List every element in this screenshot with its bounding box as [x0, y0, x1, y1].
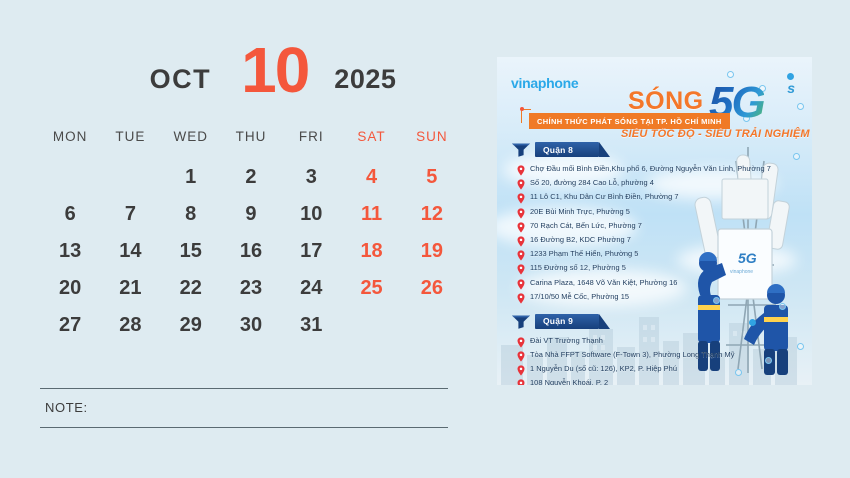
calendar-title: OCT 10 2025: [40, 38, 462, 106]
day-cell-10[interactable]: 10: [281, 196, 341, 233]
district-badge-plate: Quận 8: [535, 142, 599, 157]
funnel-icon: [511, 142, 531, 157]
weekday-wed: WED: [161, 129, 221, 144]
address-item[interactable]: 20E Bùi Minh Trực, Phường 5: [517, 208, 801, 219]
map-pin-icon: [517, 379, 525, 385]
address-text: 20E Bùi Minh Trực, Phường 5: [530, 208, 630, 216]
day-cell-26[interactable]: 26: [402, 270, 462, 307]
address-text: 11 Lô C1, Khu Dân Cư Bình Điền, Phường 7: [530, 193, 679, 201]
day-cell-28[interactable]: 28: [100, 307, 160, 344]
network-dot-icon: [727, 71, 734, 78]
address-text: 70 Rạch Cát, Bến Lức, Phường 7: [530, 222, 642, 230]
address-item[interactable]: 11 Lô C1, Khu Dân Cư Bình Điền, Phường 7: [517, 193, 801, 204]
map-pin-icon: [517, 250, 525, 261]
address-text: Tòa Nhà FFPT Software (F-Town 3), Phường…: [530, 351, 734, 359]
address-text: 1 Nguyễn Du (số cũ: 126), KP2, P. Hiệp P…: [530, 365, 677, 373]
funnel-icon: [511, 314, 531, 329]
weekday-sat: SAT: [341, 129, 401, 144]
weekday-fri: FRI: [281, 129, 341, 144]
map-pin-icon: [517, 165, 525, 176]
map-pin-icon: [517, 208, 525, 219]
day-cell-12[interactable]: 12: [402, 196, 462, 233]
map-pin-icon: [517, 179, 525, 190]
day-cell-25[interactable]: 25: [341, 270, 401, 307]
day-cell-4[interactable]: 4: [341, 159, 401, 196]
day-cell-30[interactable]: 30: [221, 307, 281, 344]
weekday-sun: SUN: [402, 129, 462, 144]
district-badge[interactable]: Quận 9: [511, 313, 599, 330]
day-cell-29[interactable]: 29: [161, 307, 221, 344]
address-item[interactable]: 1233 Phạm Thế Hiển, Phường 5: [517, 250, 801, 261]
address-item[interactable]: 16 Đường B2, KDC Phường 7: [517, 236, 801, 247]
map-pin-icon: [517, 293, 525, 304]
address-list: Đài VT Trường ThạnhTòa Nhà FFPT Software…: [517, 337, 801, 385]
day-cell-17[interactable]: 17: [281, 233, 341, 270]
day-cell-22[interactable]: 22: [161, 270, 221, 307]
5g-logo-superscript: s: [787, 80, 795, 96]
address-list: Chợ Đầu mối Bình Điền,Khu phố 6, Đường N…: [517, 165, 801, 304]
address-item[interactable]: Tòa Nhà FFPT Software (F-Town 3), Phường…: [517, 351, 801, 362]
year-label: 2025: [334, 66, 396, 93]
month-number: 10: [241, 38, 308, 102]
day-cell-8[interactable]: 8: [161, 196, 221, 233]
address-text: 17/10/50 Mễ Cốc, Phường 15: [530, 293, 629, 301]
address-text: Chợ Đầu mối Bình Điền,Khu phố 6, Đường N…: [530, 165, 771, 173]
weekday-header-row: MONTUEWEDTHUFRISATSUN: [40, 129, 462, 144]
weekday-tue: TUE: [100, 129, 160, 144]
map-pin-icon: [517, 337, 525, 348]
day-cell-19[interactable]: 19: [402, 233, 462, 270]
address-item[interactable]: 115 Đường số 12, Phường 5: [517, 264, 801, 275]
ad-banner-text: CHÍNH THỨC PHÁT SÓNG TẠI TP. HỒ CHÍ MINH: [529, 113, 730, 129]
weekday-thu: THU: [221, 129, 281, 144]
day-cell-20[interactable]: 20: [40, 270, 100, 307]
district-label: Quận 8: [543, 145, 573, 155]
weekday-mon: MON: [40, 129, 100, 144]
day-cell-2[interactable]: 2: [221, 159, 281, 196]
district-label: Quận 9: [543, 316, 573, 326]
address-item[interactable]: 1 Nguyễn Du (số cũ: 126), KP2, P. Hiệp P…: [517, 365, 801, 376]
district-address-lists: Quận 8Chợ Đầu mối Bình Điền,Khu phố 6, Đ…: [509, 141, 801, 385]
ad-headline-song: SÓNG: [628, 87, 704, 116]
day-cell-31[interactable]: 31: [281, 307, 341, 344]
map-pin-icon: [517, 236, 525, 247]
day-cell-21[interactable]: 21: [100, 270, 160, 307]
day-cell-7[interactable]: 7: [100, 196, 160, 233]
address-text: 115 Đường số 12, Phường 5: [530, 264, 626, 272]
map-pin-icon: [517, 193, 525, 204]
day-cell-15[interactable]: 15: [161, 233, 221, 270]
day-cell-empty: [100, 159, 160, 196]
ad-tagline: SIÊU TỐC ĐỘ - SIÊU TRẢI NGHIỆM: [621, 128, 810, 140]
address-item[interactable]: Số 20, đường 284 Cao Lỗ, phường 4: [517, 179, 801, 190]
map-pin-icon: [517, 264, 525, 275]
month-abbreviation: OCT: [150, 66, 212, 93]
address-text: Số 20, đường 284 Cao Lỗ, phường 4: [530, 179, 654, 187]
district-badge-plate: Quận 9: [535, 314, 599, 329]
day-cell-5[interactable]: 5: [402, 159, 462, 196]
day-cell-3[interactable]: 3: [281, 159, 341, 196]
district-group: Quận 9Đài VT Trường ThạnhTòa Nhà FFPT So…: [509, 313, 801, 385]
note-block: NOTE:: [40, 388, 448, 428]
district-group: Quận 8Chợ Đầu mối Bình Điền,Khu phố 6, Đ…: [509, 141, 801, 304]
day-cell-empty: [40, 159, 100, 196]
address-item[interactable]: 17/10/50 Mễ Cốc, Phường 15: [517, 293, 801, 304]
day-cell-6[interactable]: 6: [40, 196, 100, 233]
address-text: Đài VT Trường Thạnh: [530, 337, 603, 345]
day-cell-18[interactable]: 18: [341, 233, 401, 270]
map-pin-icon: [517, 222, 525, 233]
network-dot-icon: [797, 103, 804, 110]
address-item[interactable]: Carina Plaza, 1648 Võ Văn Kiệt, Phường 1…: [517, 279, 801, 290]
map-pin-icon: [517, 351, 525, 362]
address-text: 16 Đường B2, KDC Phường 7: [530, 236, 631, 244]
day-cell-14[interactable]: 14: [100, 233, 160, 270]
day-cell-9[interactable]: 9: [221, 196, 281, 233]
note-rule-bottom: [40, 427, 448, 428]
district-badge[interactable]: Quận 8: [511, 141, 599, 158]
day-cell-11[interactable]: 11: [341, 196, 401, 233]
day-cell-16[interactable]: 16: [221, 233, 281, 270]
vinaphone-5g-ad-panel[interactable]: 5G vinaphone vinaph: [497, 57, 812, 385]
day-cell-24[interactable]: 24: [281, 270, 341, 307]
address-item[interactable]: 108 Nguyễn Khoái, P. 2: [517, 379, 801, 385]
day-cell-13[interactable]: 13: [40, 233, 100, 270]
vinaphone-logo: vinaphone: [511, 75, 578, 91]
calendar-panel: OCT 10 2025 MONTUEWEDTHUFRISATSUN 123456…: [40, 38, 462, 443]
address-item[interactable]: Chợ Đầu mối Bình Điền,Khu phố 6, Đường N…: [517, 165, 801, 176]
day-cell-23[interactable]: 23: [221, 270, 281, 307]
calendar-days-grid: 1234567891011121314151617181920212223242…: [40, 159, 462, 344]
map-pin-icon: [517, 279, 525, 290]
address-item[interactable]: Đài VT Trường Thạnh: [517, 337, 801, 348]
day-cell-1[interactable]: 1: [161, 159, 221, 196]
address-text: 1233 Phạm Thế Hiển, Phường 5: [530, 250, 638, 258]
day-cell-27[interactable]: 27: [40, 307, 100, 344]
address-item[interactable]: 70 Rạch Cát, Bến Lức, Phường 7: [517, 222, 801, 233]
note-label: NOTE:: [40, 389, 448, 427]
address-text: Carina Plaza, 1648 Võ Văn Kiệt, Phường 1…: [530, 279, 677, 287]
address-text: 108 Nguyễn Khoái, P. 2: [530, 379, 608, 385]
map-pin-icon: [517, 365, 525, 376]
